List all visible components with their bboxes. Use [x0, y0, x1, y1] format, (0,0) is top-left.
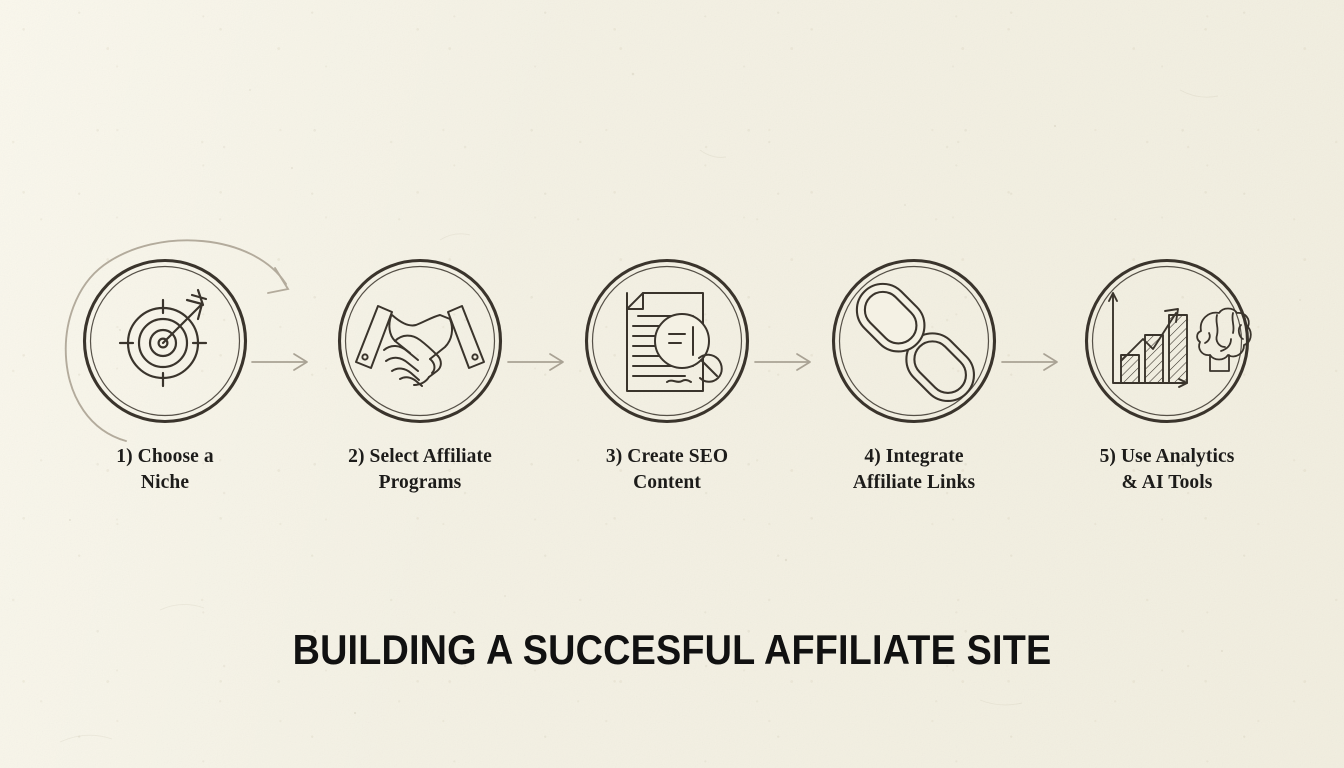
step-5-circle[interactable]	[1081, 255, 1253, 427]
chain-link-icon	[846, 273, 985, 412]
document-magnifier-icon	[627, 293, 722, 391]
step-2-label: 2) Select Affiliate Programs	[305, 444, 535, 496]
step-1-label: 1) Choose a Niche	[50, 444, 280, 496]
step-2-circle[interactable]	[334, 255, 506, 427]
step-3-label: 3) Create SEO Content	[552, 444, 782, 496]
circle-frame	[1087, 261, 1248, 422]
target-arrow-icon	[120, 290, 206, 386]
step-4-circle[interactable]	[828, 255, 1000, 427]
step-1-circle[interactable]	[79, 255, 251, 427]
step-3[interactable]: 3) Create SEO Content	[552, 255, 782, 496]
step-4-label: 4) Integrate Affiliate Links	[799, 444, 1029, 496]
step-5-label: 5) Use Analytics & AI Tools	[1052, 444, 1282, 496]
step-3-circle[interactable]	[581, 255, 753, 427]
page-title: BUILDING A SUCCESFUL AFFILIATE SITE	[67, 624, 1277, 676]
bar-chart-icon	[1109, 293, 1187, 387]
handshake-icon	[356, 306, 484, 386]
step-5[interactable]: 5) Use Analytics & AI Tools	[1052, 255, 1282, 496]
step-4[interactable]: 4) Integrate Affiliate Links	[799, 255, 1029, 496]
steps-row: 1) Choose a Niche	[0, 255, 1344, 545]
step-1[interactable]: 1) Choose a Niche	[50, 255, 280, 496]
step-2[interactable]: 2) Select Affiliate Programs	[305, 255, 535, 496]
